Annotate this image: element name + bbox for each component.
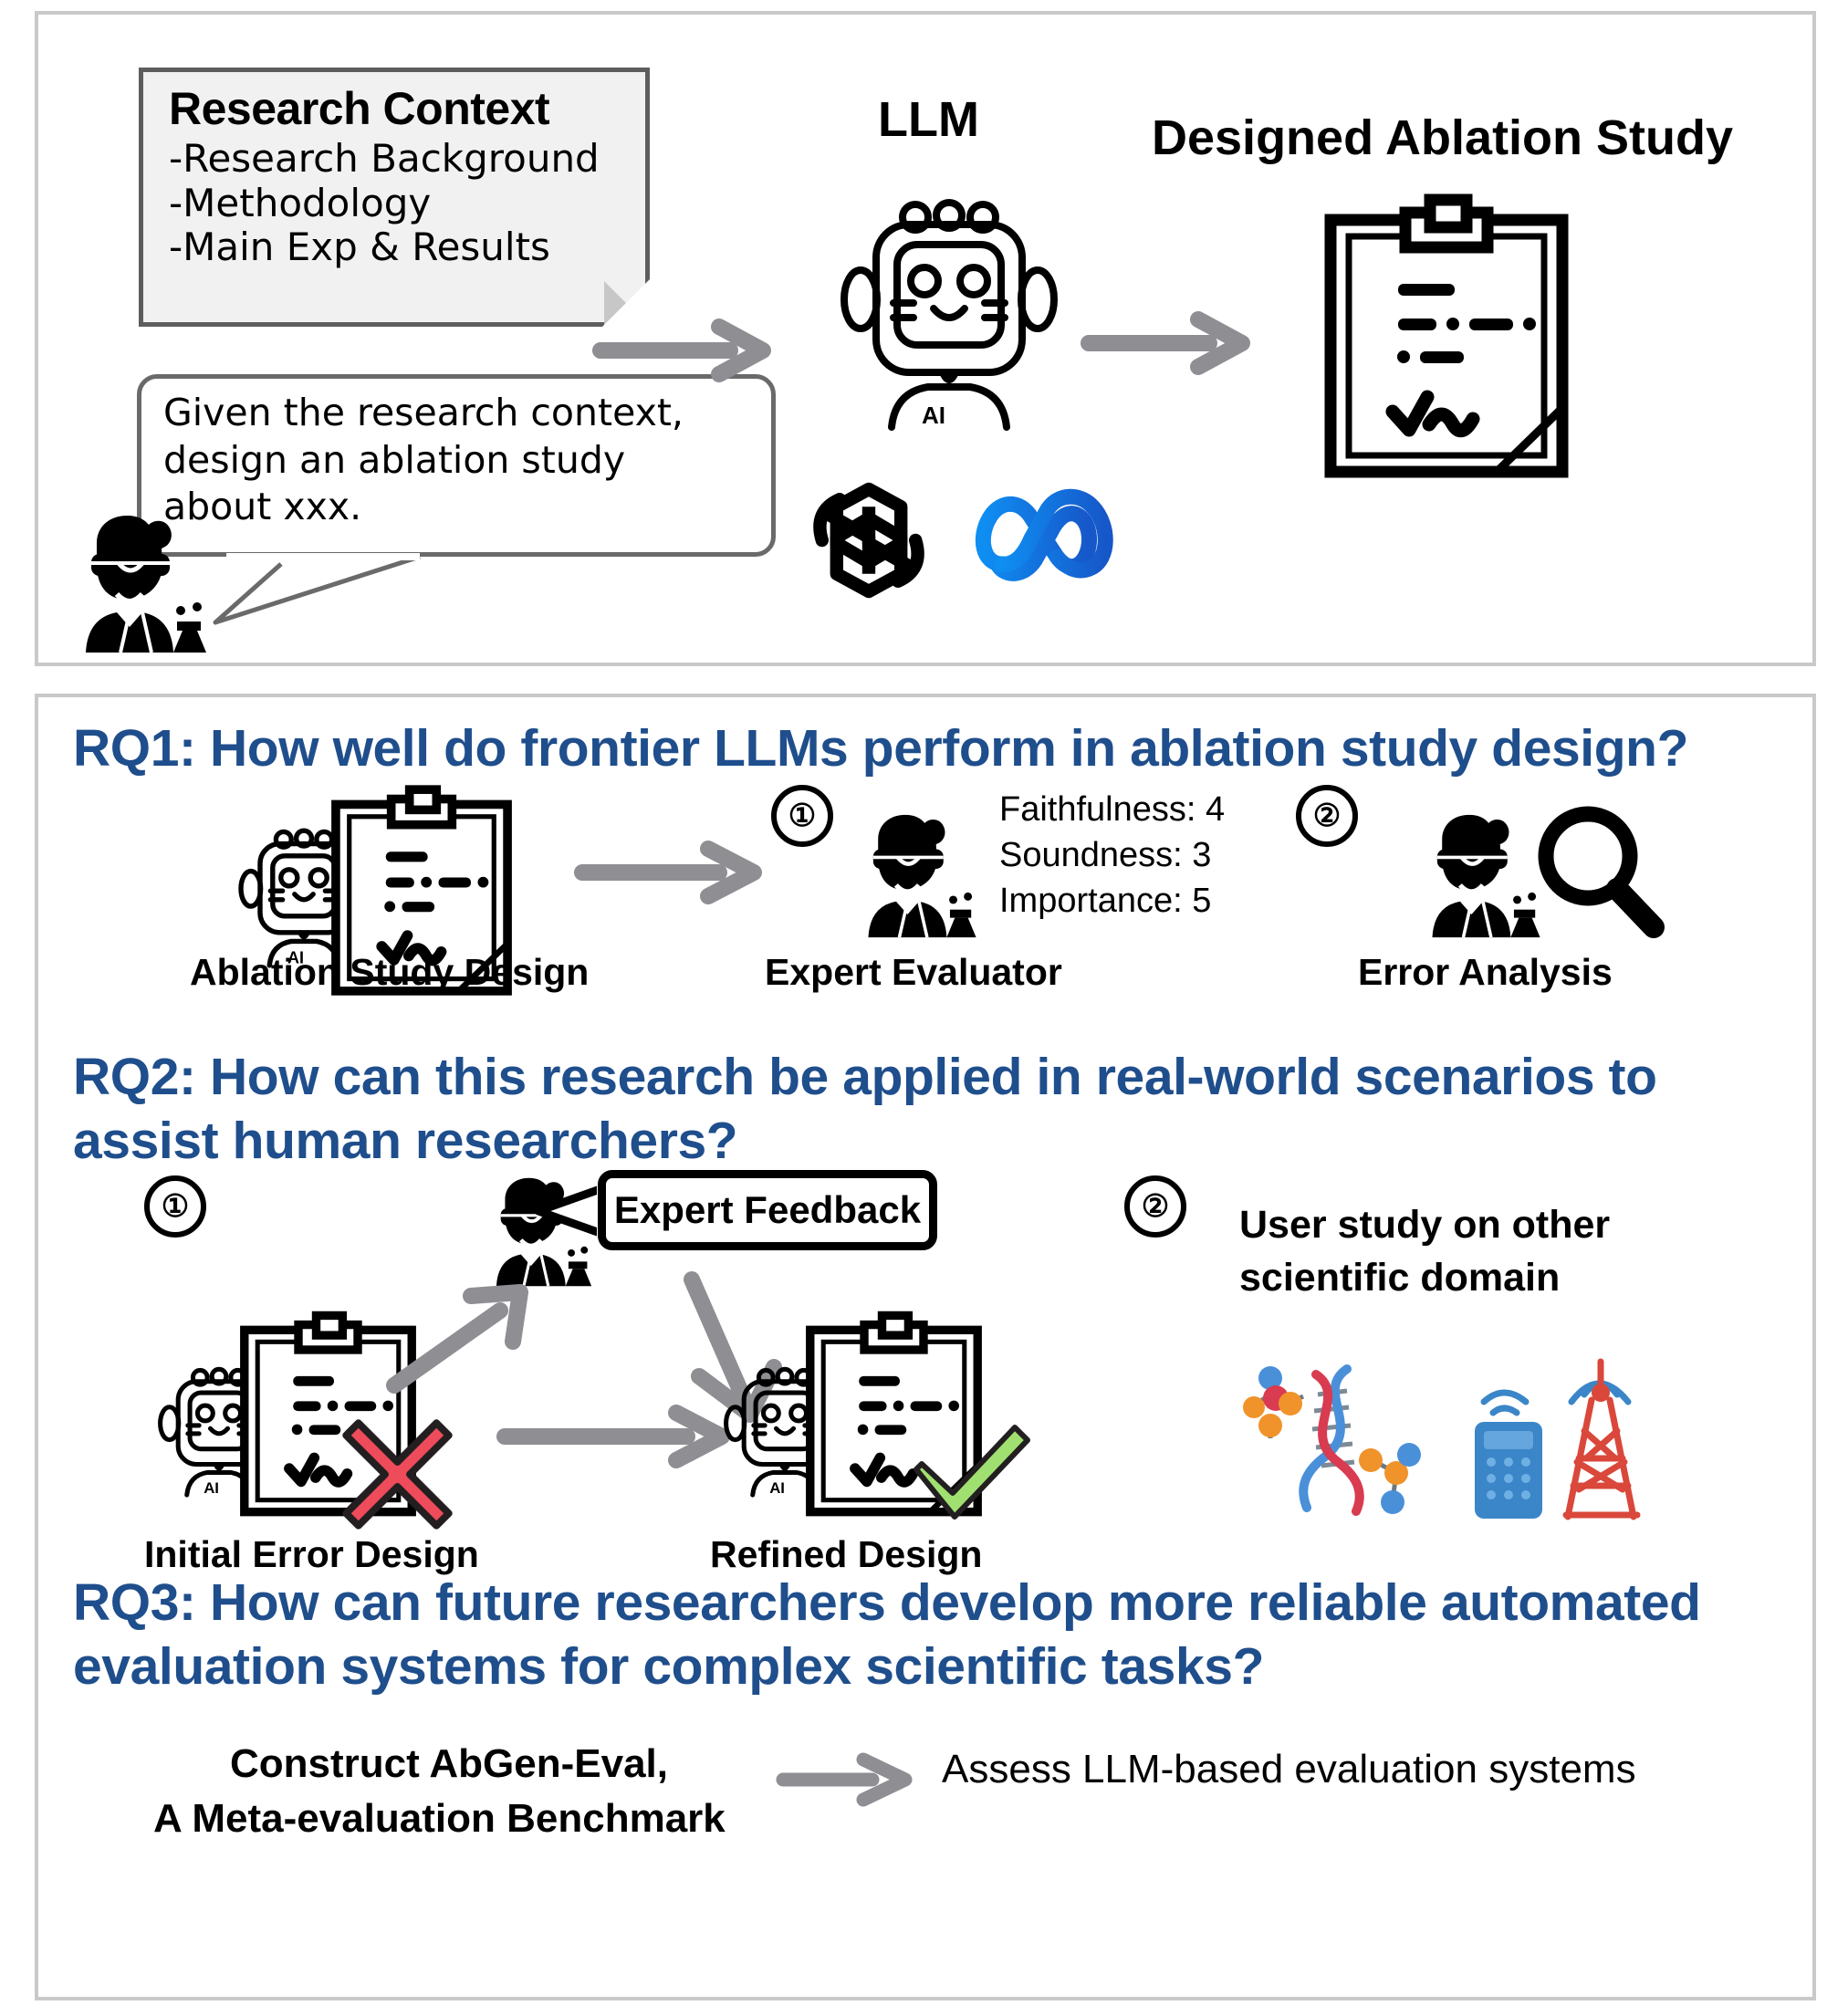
designed-ablation-study-label: Designed Ablation Study: [1152, 110, 1733, 166]
green-check-icon: [902, 1413, 1039, 1527]
user-study-line-2: scientific domain: [1239, 1256, 1560, 1300]
score-faithfulness: Faithfulness: 4: [999, 787, 1225, 832]
construct-benchmark-line-2: A Meta-evaluation Benchmark: [153, 1796, 726, 1842]
score-importance: Importance: 5: [999, 878, 1211, 924]
construct-benchmark-line-1: Construct AbGen-Eval,: [230, 1741, 668, 1787]
arrow-design-to-evaluator-icon: [575, 840, 767, 904]
ablation-study-design-label: Ablation Study Design: [190, 951, 589, 994]
meta-logo-icon: [975, 482, 1130, 591]
rq3-heading-line-2: evaluation systems for complex scientifi…: [73, 1635, 1264, 1699]
rq2-refined-robot-ai-badge: AI: [769, 1479, 785, 1497]
dna-molecule-icon: [1230, 1351, 1431, 1520]
user-study-line-1: User study on other: [1239, 1203, 1610, 1248]
expert-evaluator-avatar-icon: [849, 812, 1004, 940]
researcher-avatar-icon: [64, 516, 237, 653]
research-context-item-0: -Research Background: [143, 137, 645, 182]
error-analysis-label: Error Analysis: [1358, 951, 1613, 994]
rq3-heading-line-1: RQ3: How can future researchers develop …: [73, 1572, 1701, 1635]
research-context-item-1: -Methodology: [143, 182, 645, 226]
rq2-step-1-badge: ①: [144, 1175, 206, 1238]
research-context-note: Research Context -Research Background -M…: [139, 68, 650, 327]
rq2-heading-line-2: assist human researchers?: [73, 1110, 737, 1174]
rq2-heading-line-1: RQ2: How can this research be applied in…: [73, 1046, 1657, 1110]
clipboard-output-icon: [1323, 196, 1570, 479]
robot-ai-badge: AI: [922, 402, 945, 429]
speech-line-0: Given the research context,: [141, 379, 771, 437]
magnifier-icon: [1526, 799, 1672, 945]
arrow-initial-to-expert-icon: [383, 1278, 566, 1396]
initial-error-design-label: Initial Error Design: [144, 1533, 479, 1576]
refined-design-label: Refined Design: [710, 1533, 982, 1576]
llm-label: LLM: [878, 91, 979, 148]
rq2-step-2-badge: ②: [1124, 1175, 1186, 1238]
arrow-llm-to-output-icon: [1081, 310, 1255, 374]
expert-feedback-callout: Expert Feedback: [598, 1170, 937, 1250]
phone-tower-icon: [1462, 1343, 1663, 1521]
arrow-initial-to-refined-icon: [497, 1404, 735, 1468]
assess-systems-label: Assess LLM-based evaluation systems: [942, 1747, 1636, 1792]
arrow-construct-to-assess-icon: [778, 1750, 914, 1809]
research-context-title: Research Context: [143, 72, 645, 137]
arrow-context-to-llm-icon: [593, 318, 776, 381]
speech-bubble-tail-icon: [208, 555, 427, 628]
research-context-item-2: -Main Exp & Results: [143, 225, 645, 270]
red-x-icon: [336, 1413, 459, 1536]
score-soundness: Soundness: 3: [999, 832, 1211, 878]
expert-evaluator-label: Expert Evaluator: [765, 951, 1062, 994]
openai-logo-icon: [796, 467, 942, 613]
llm-robot-icon: AI: [835, 201, 1063, 438]
rq1-heading: RQ1: How well do frontier LLMs perform i…: [73, 717, 1807, 781]
rq2-initial-robot-ai-badge: AI: [204, 1479, 219, 1497]
rq1-step-1-badge: ①: [771, 785, 833, 847]
speech-line-1: design an ablation study: [141, 437, 771, 485]
rq1-step-2-badge: ②: [1296, 785, 1358, 847]
